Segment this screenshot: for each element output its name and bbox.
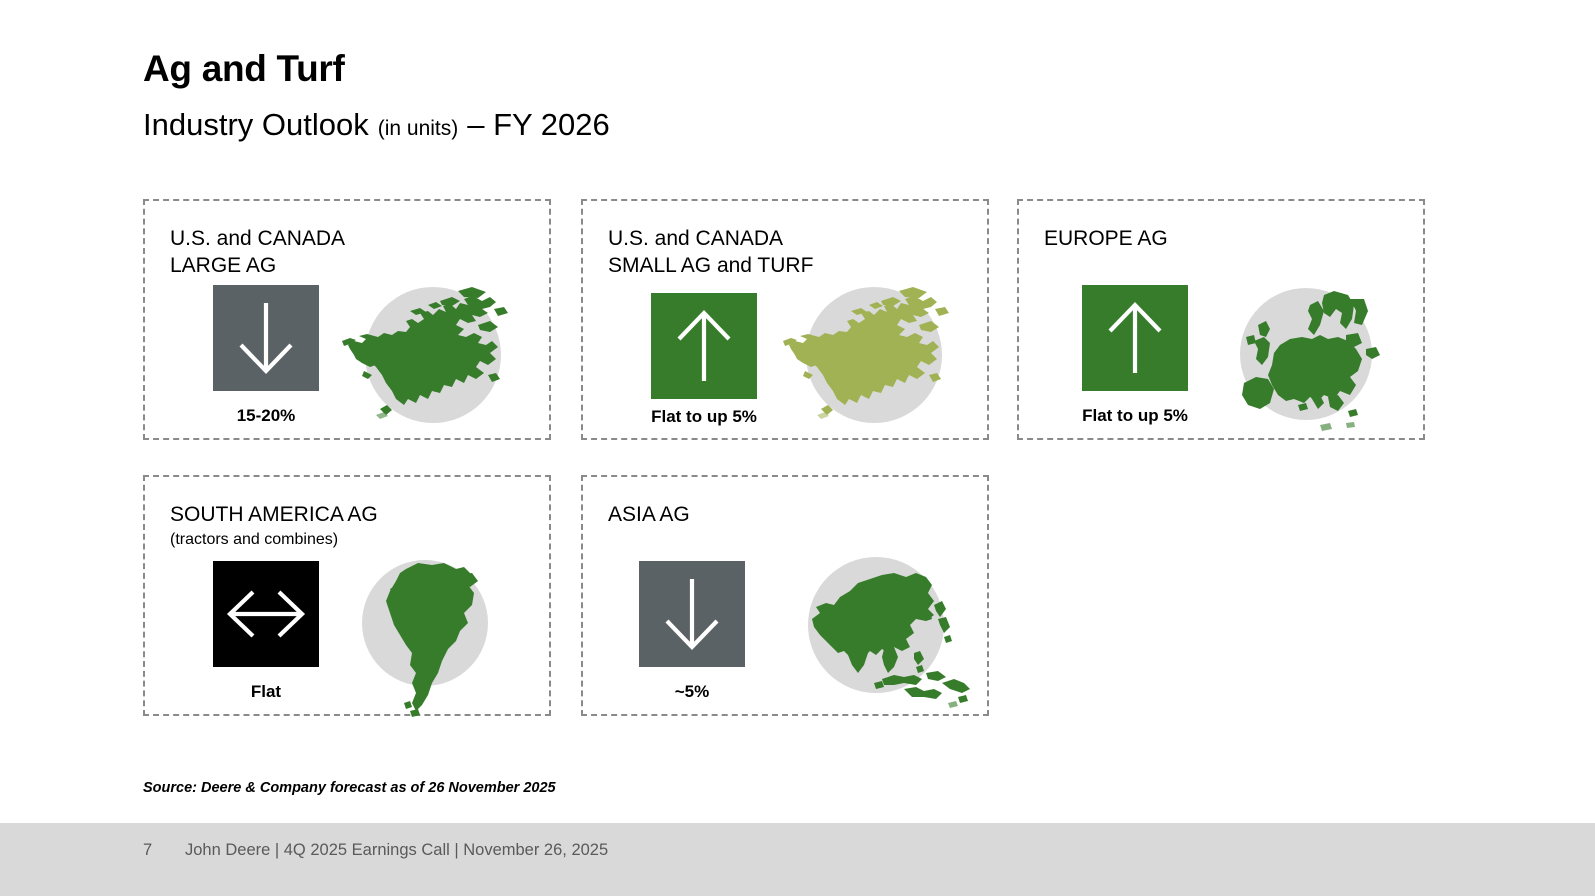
card-title: SOUTH AMERICA AG — [170, 501, 378, 528]
source-note: Source: Deere & Company forecast as of 2… — [143, 780, 556, 796]
arrow-down-icon — [639, 561, 745, 667]
card-title: EUROPE AG — [1044, 225, 1168, 252]
north-america-map-icon — [781, 279, 951, 439]
card-title: ASIA AG — [608, 501, 690, 528]
outlook-card-south-america-ag[interactable]: SOUTH AMERICA AG (tractors and combines)… — [143, 475, 551, 716]
north-america-map-icon — [340, 279, 510, 439]
outlook-card-us-canada-large-ag[interactable]: U.S. and CANADA LARGE AG 15-20% — [143, 199, 551, 440]
outlook-card-asia-ag[interactable]: ASIA AG ~5% — [581, 475, 989, 716]
subtitle-units: (in units) — [378, 116, 459, 141]
subtitle-main: Industry Outlook — [143, 106, 369, 143]
card-subtitle: (tractors and combines) — [170, 530, 338, 550]
subtitle-year: – FY 2026 — [467, 106, 609, 143]
outlook-card-europe-ag[interactable]: EUROPE AG Flat to up 5% — [1017, 199, 1425, 440]
footer-page-number: 7 — [143, 841, 152, 860]
page-subtitle: Industry Outlook (in units) – FY 2026 — [143, 106, 610, 143]
footer-text: John Deere | 4Q 2025 Earnings Call | Nov… — [185, 841, 608, 860]
outlook-value: 15-20% — [213, 406, 319, 426]
outlook-value: Flat — [213, 682, 319, 702]
arrow-up-icon — [651, 293, 757, 399]
europe-map-icon — [1224, 279, 1389, 439]
card-title: U.S. and CANADA LARGE AG — [170, 225, 345, 279]
outlook-card-us-canada-small-ag-turf[interactable]: U.S. and CANADA SMALL AG and TURF Flat t… — [581, 199, 989, 440]
asia-map-icon — [798, 553, 973, 715]
outlook-value: Flat to up 5% — [1047, 406, 1223, 426]
south-america-map-icon — [360, 553, 510, 718]
arrow-up-icon — [1082, 285, 1188, 391]
outlook-value: ~5% — [639, 682, 745, 702]
arrow-down-icon — [213, 285, 319, 391]
card-title: U.S. and CANADA SMALL AG and TURF — [608, 225, 813, 279]
arrow-left-right-icon — [213, 561, 319, 667]
outlook-value: Flat to up 5% — [616, 407, 792, 427]
page-title: Ag and Turf — [143, 48, 345, 91]
